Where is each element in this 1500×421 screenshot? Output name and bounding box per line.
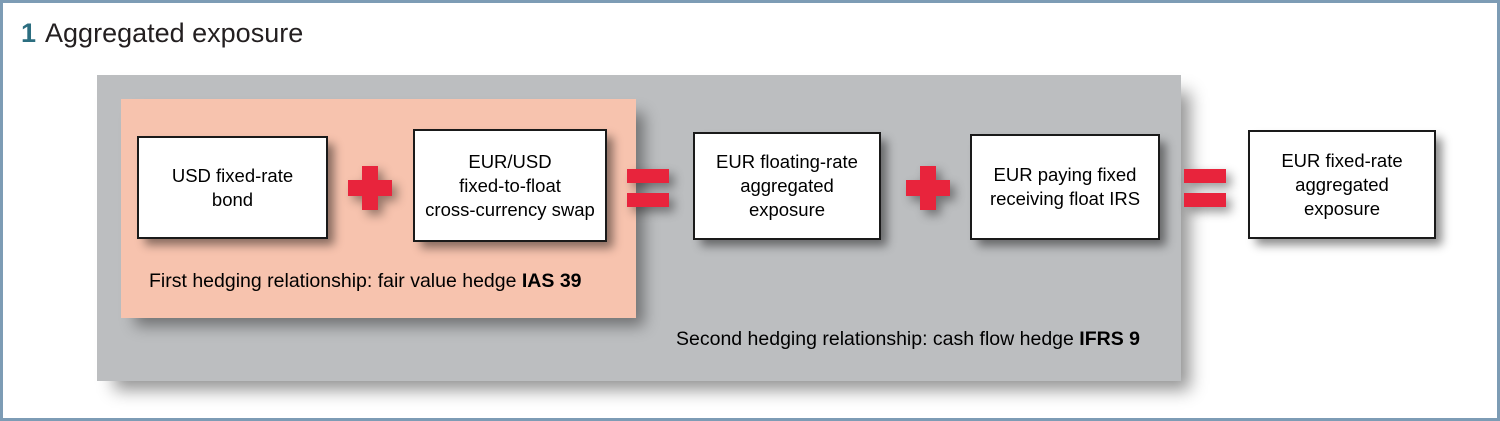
box-label-line: bond xyxy=(172,188,293,212)
figure-page: 1 Aggregated exposure USD fixed-rate bon… xyxy=(0,0,1500,421)
box-label-line: USD fixed-rate xyxy=(172,164,293,188)
caption-standard: IAS 39 xyxy=(522,270,582,292)
box-label: EUR/USD fixed-to-float cross-currency sw… xyxy=(419,150,601,222)
box-usd-fixed-rate-bond[interactable]: USD fixed-rate bond xyxy=(137,136,328,239)
box-label-line: fixed-to-float xyxy=(425,174,595,198)
box-label: USD fixed-rate bond xyxy=(166,164,299,212)
caption-text: Second hedging relationship: cash flow h… xyxy=(676,328,1079,350)
caption-second-hedging-relationship: Second hedging relationship: cash flow h… xyxy=(676,328,1140,351)
equals-bottom-bar xyxy=(1184,193,1226,207)
box-label-line: exposure xyxy=(716,198,858,222)
figure-number: 1 xyxy=(21,18,36,49)
figure-title: 1 Aggregated exposure xyxy=(21,13,303,53)
equals-top-bar xyxy=(627,169,669,183)
caption-standard: IFRS 9 xyxy=(1079,328,1140,350)
box-label-line: EUR/USD xyxy=(425,150,595,174)
caption-text: First hedging relationship: fair value h… xyxy=(149,270,522,292)
box-eur-usd-cross-currency-swap[interactable]: EUR/USD fixed-to-float cross-currency sw… xyxy=(413,129,607,242)
box-eur-fixed-rate-aggregated-exposure[interactable]: EUR fixed-rate aggregated exposure xyxy=(1248,130,1436,239)
box-label: EUR paying fixed receiving float IRS xyxy=(984,163,1146,211)
box-eur-paying-fixed-receiving-float-irs[interactable]: EUR paying fixed receiving float IRS xyxy=(970,134,1160,240)
box-label-line: EUR fixed-rate xyxy=(1281,149,1402,173)
box-label: EUR fixed-rate aggregated exposure xyxy=(1275,149,1408,221)
plus-operator-icon xyxy=(906,166,950,210)
plus-operator-icon xyxy=(348,166,392,210)
box-label-line: aggregated xyxy=(1281,173,1402,197)
box-label-line: exposure xyxy=(1281,197,1402,221)
box-label: EUR floating-rate aggregated exposure xyxy=(710,150,864,222)
box-label-line: EUR paying fixed xyxy=(990,163,1140,187)
equals-operator-icon xyxy=(1184,169,1226,207)
box-eur-floating-rate-aggregated-exposure[interactable]: EUR floating-rate aggregated exposure xyxy=(693,132,881,240)
equals-top-bar xyxy=(1184,169,1226,183)
plus-vertical-bar xyxy=(362,166,378,210)
box-label-line: aggregated xyxy=(716,174,858,198)
page-title: Aggregated exposure xyxy=(45,18,303,49)
box-label-line: receiving float IRS xyxy=(990,187,1140,211)
box-label-line: cross-currency swap xyxy=(425,198,595,222)
equals-bottom-bar xyxy=(627,193,669,207)
plus-vertical-bar xyxy=(920,166,936,210)
box-label-line: EUR floating-rate xyxy=(716,150,858,174)
caption-first-hedging-relationship: First hedging relationship: fair value h… xyxy=(149,270,582,293)
equals-operator-icon xyxy=(627,169,669,207)
